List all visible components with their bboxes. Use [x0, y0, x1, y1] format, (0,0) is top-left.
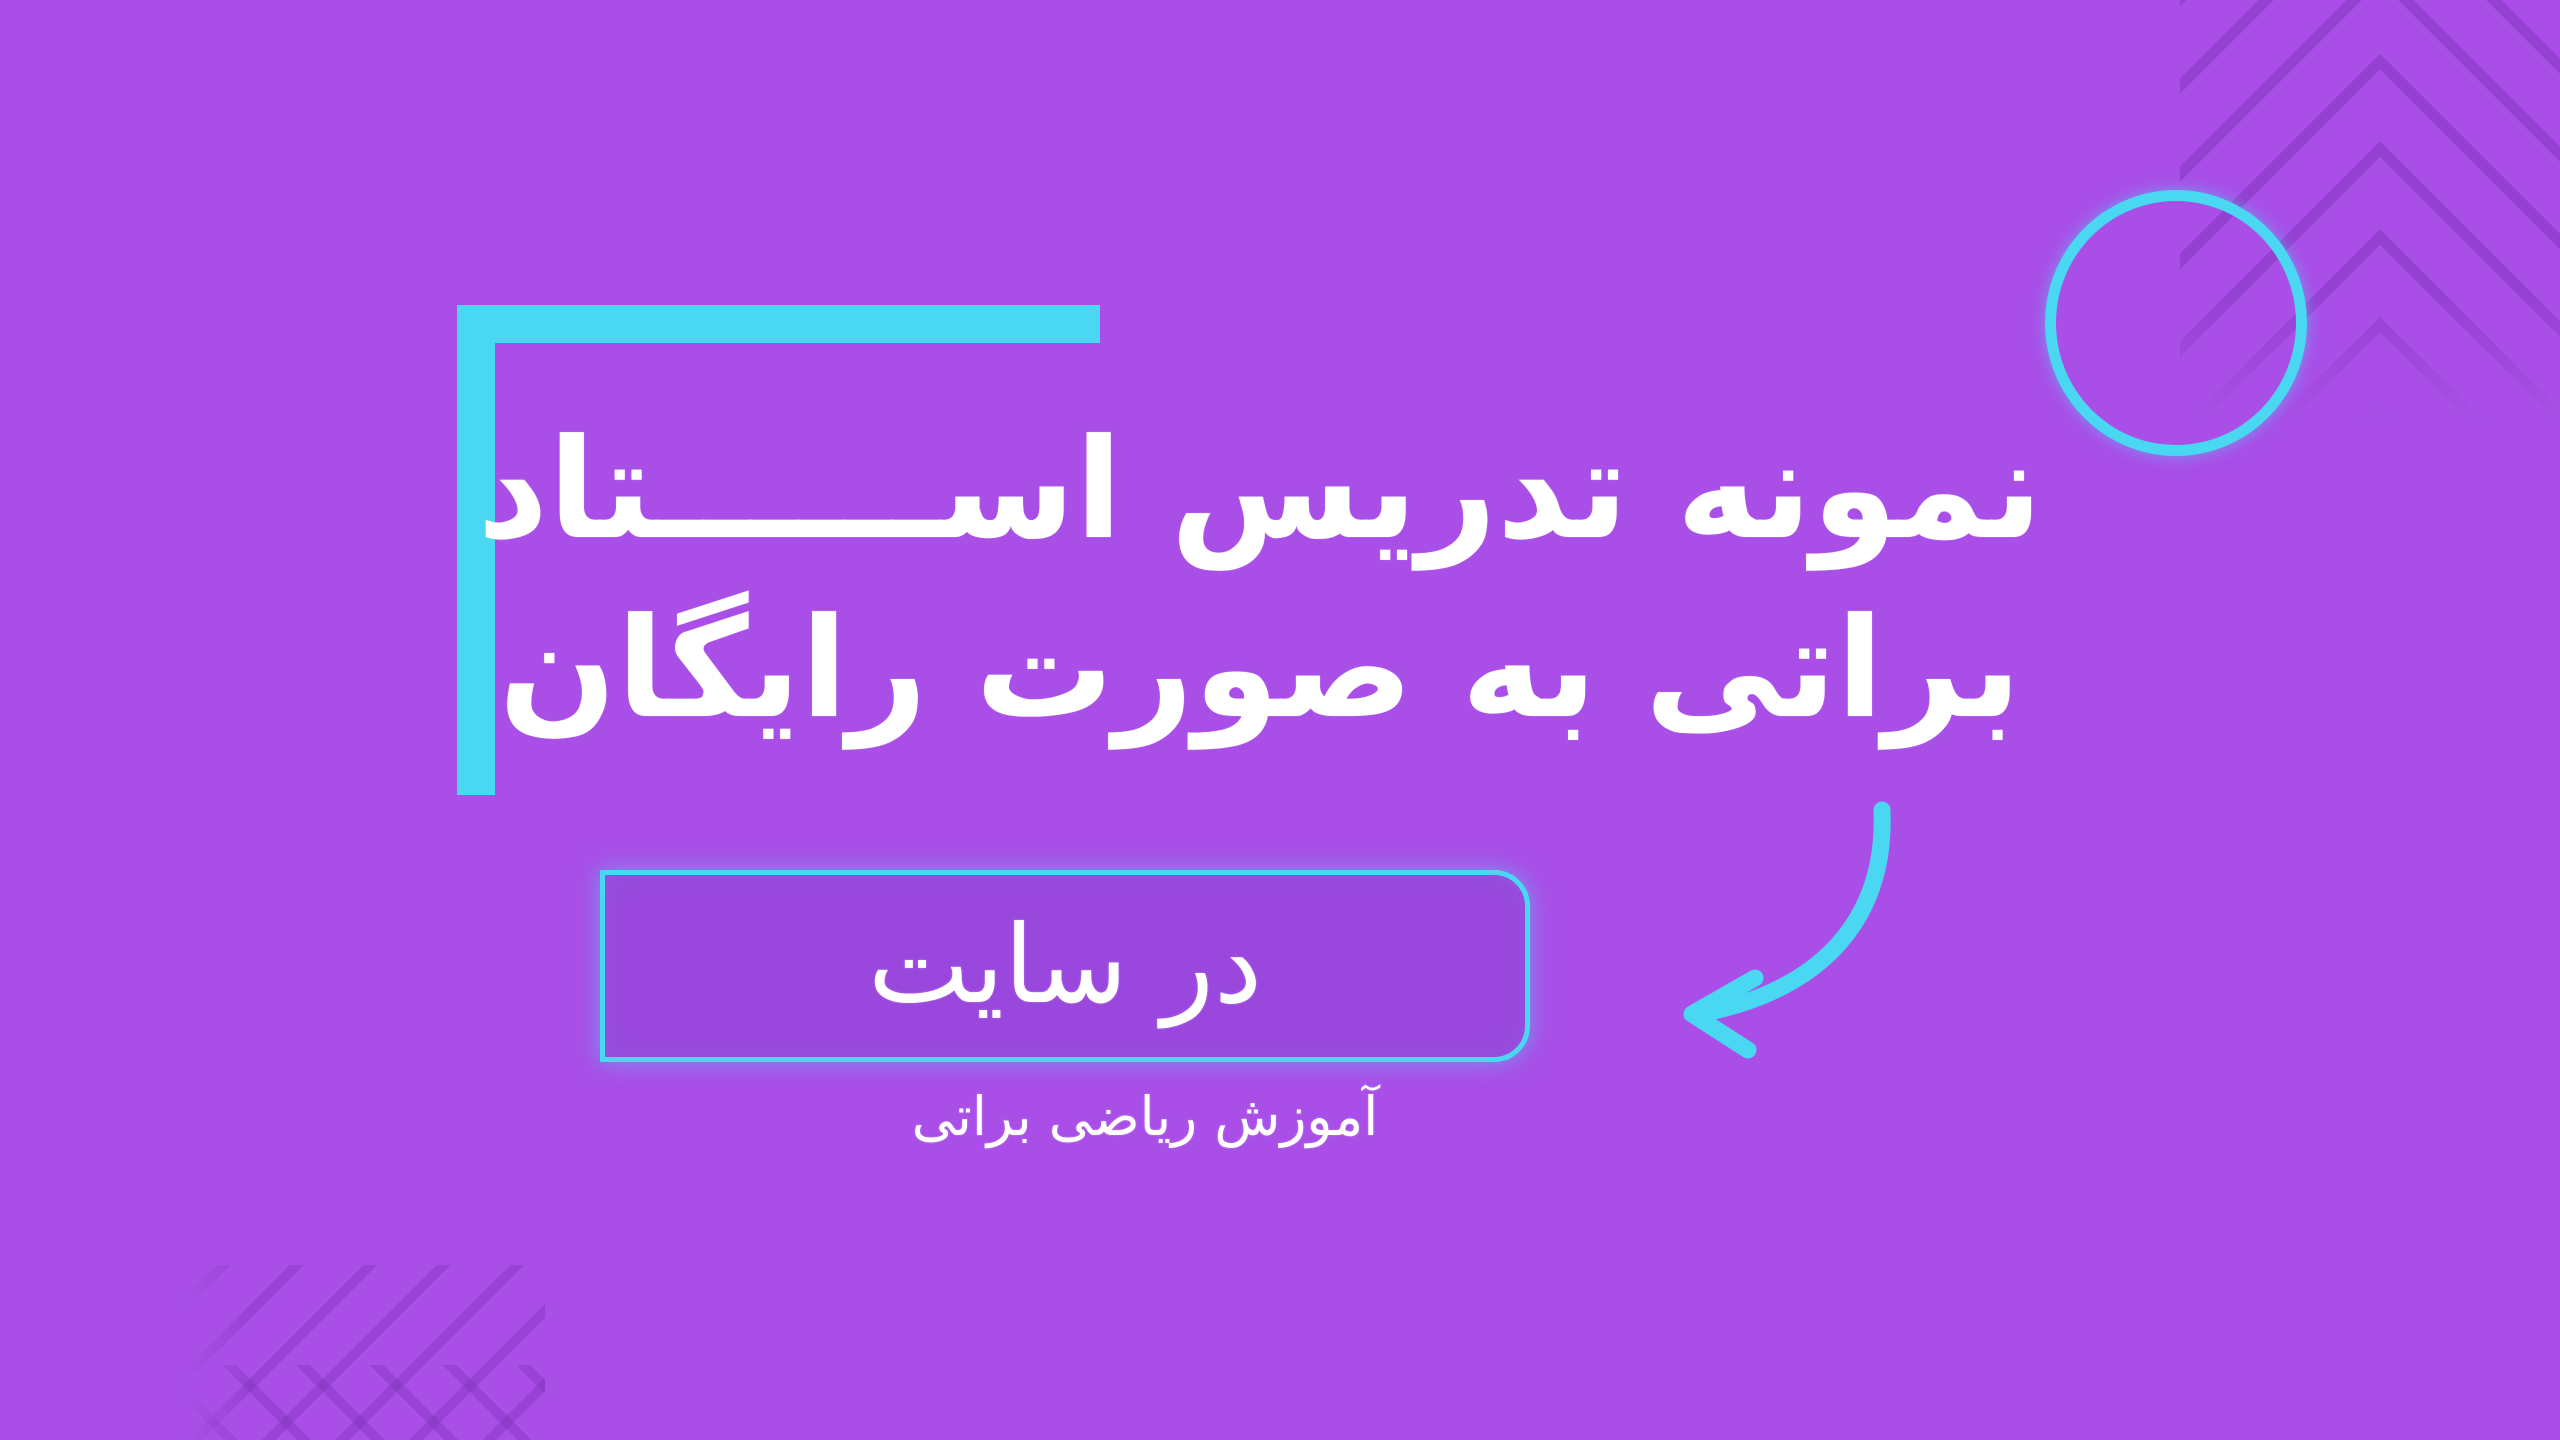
corner-bracket-horizontal-arm	[457, 305, 1100, 343]
cta-button-label: در سایت	[868, 912, 1262, 1020]
brand-caption: آموزش ریاضی براتی	[0, 1085, 2560, 1148]
promo-banner: نمونه تدریس اســــــتاد براتی به صورت را…	[0, 0, 2560, 1440]
headline-line-2: براتی به صورت رایگان	[0, 579, 2520, 758]
chevron-pattern-right-icon	[185, 1365, 545, 1440]
curved-left-arrow-icon	[1620, 800, 1920, 1070]
headline-line-1: نمونه تدریس اســــــتاد	[0, 400, 2520, 579]
chevron-pattern-up-icon	[2380, 0, 2560, 420]
page-title: نمونه تدریس اســــــتاد براتی به صورت را…	[0, 400, 2560, 759]
cta-button[interactable]: در سایت	[600, 870, 1530, 1062]
